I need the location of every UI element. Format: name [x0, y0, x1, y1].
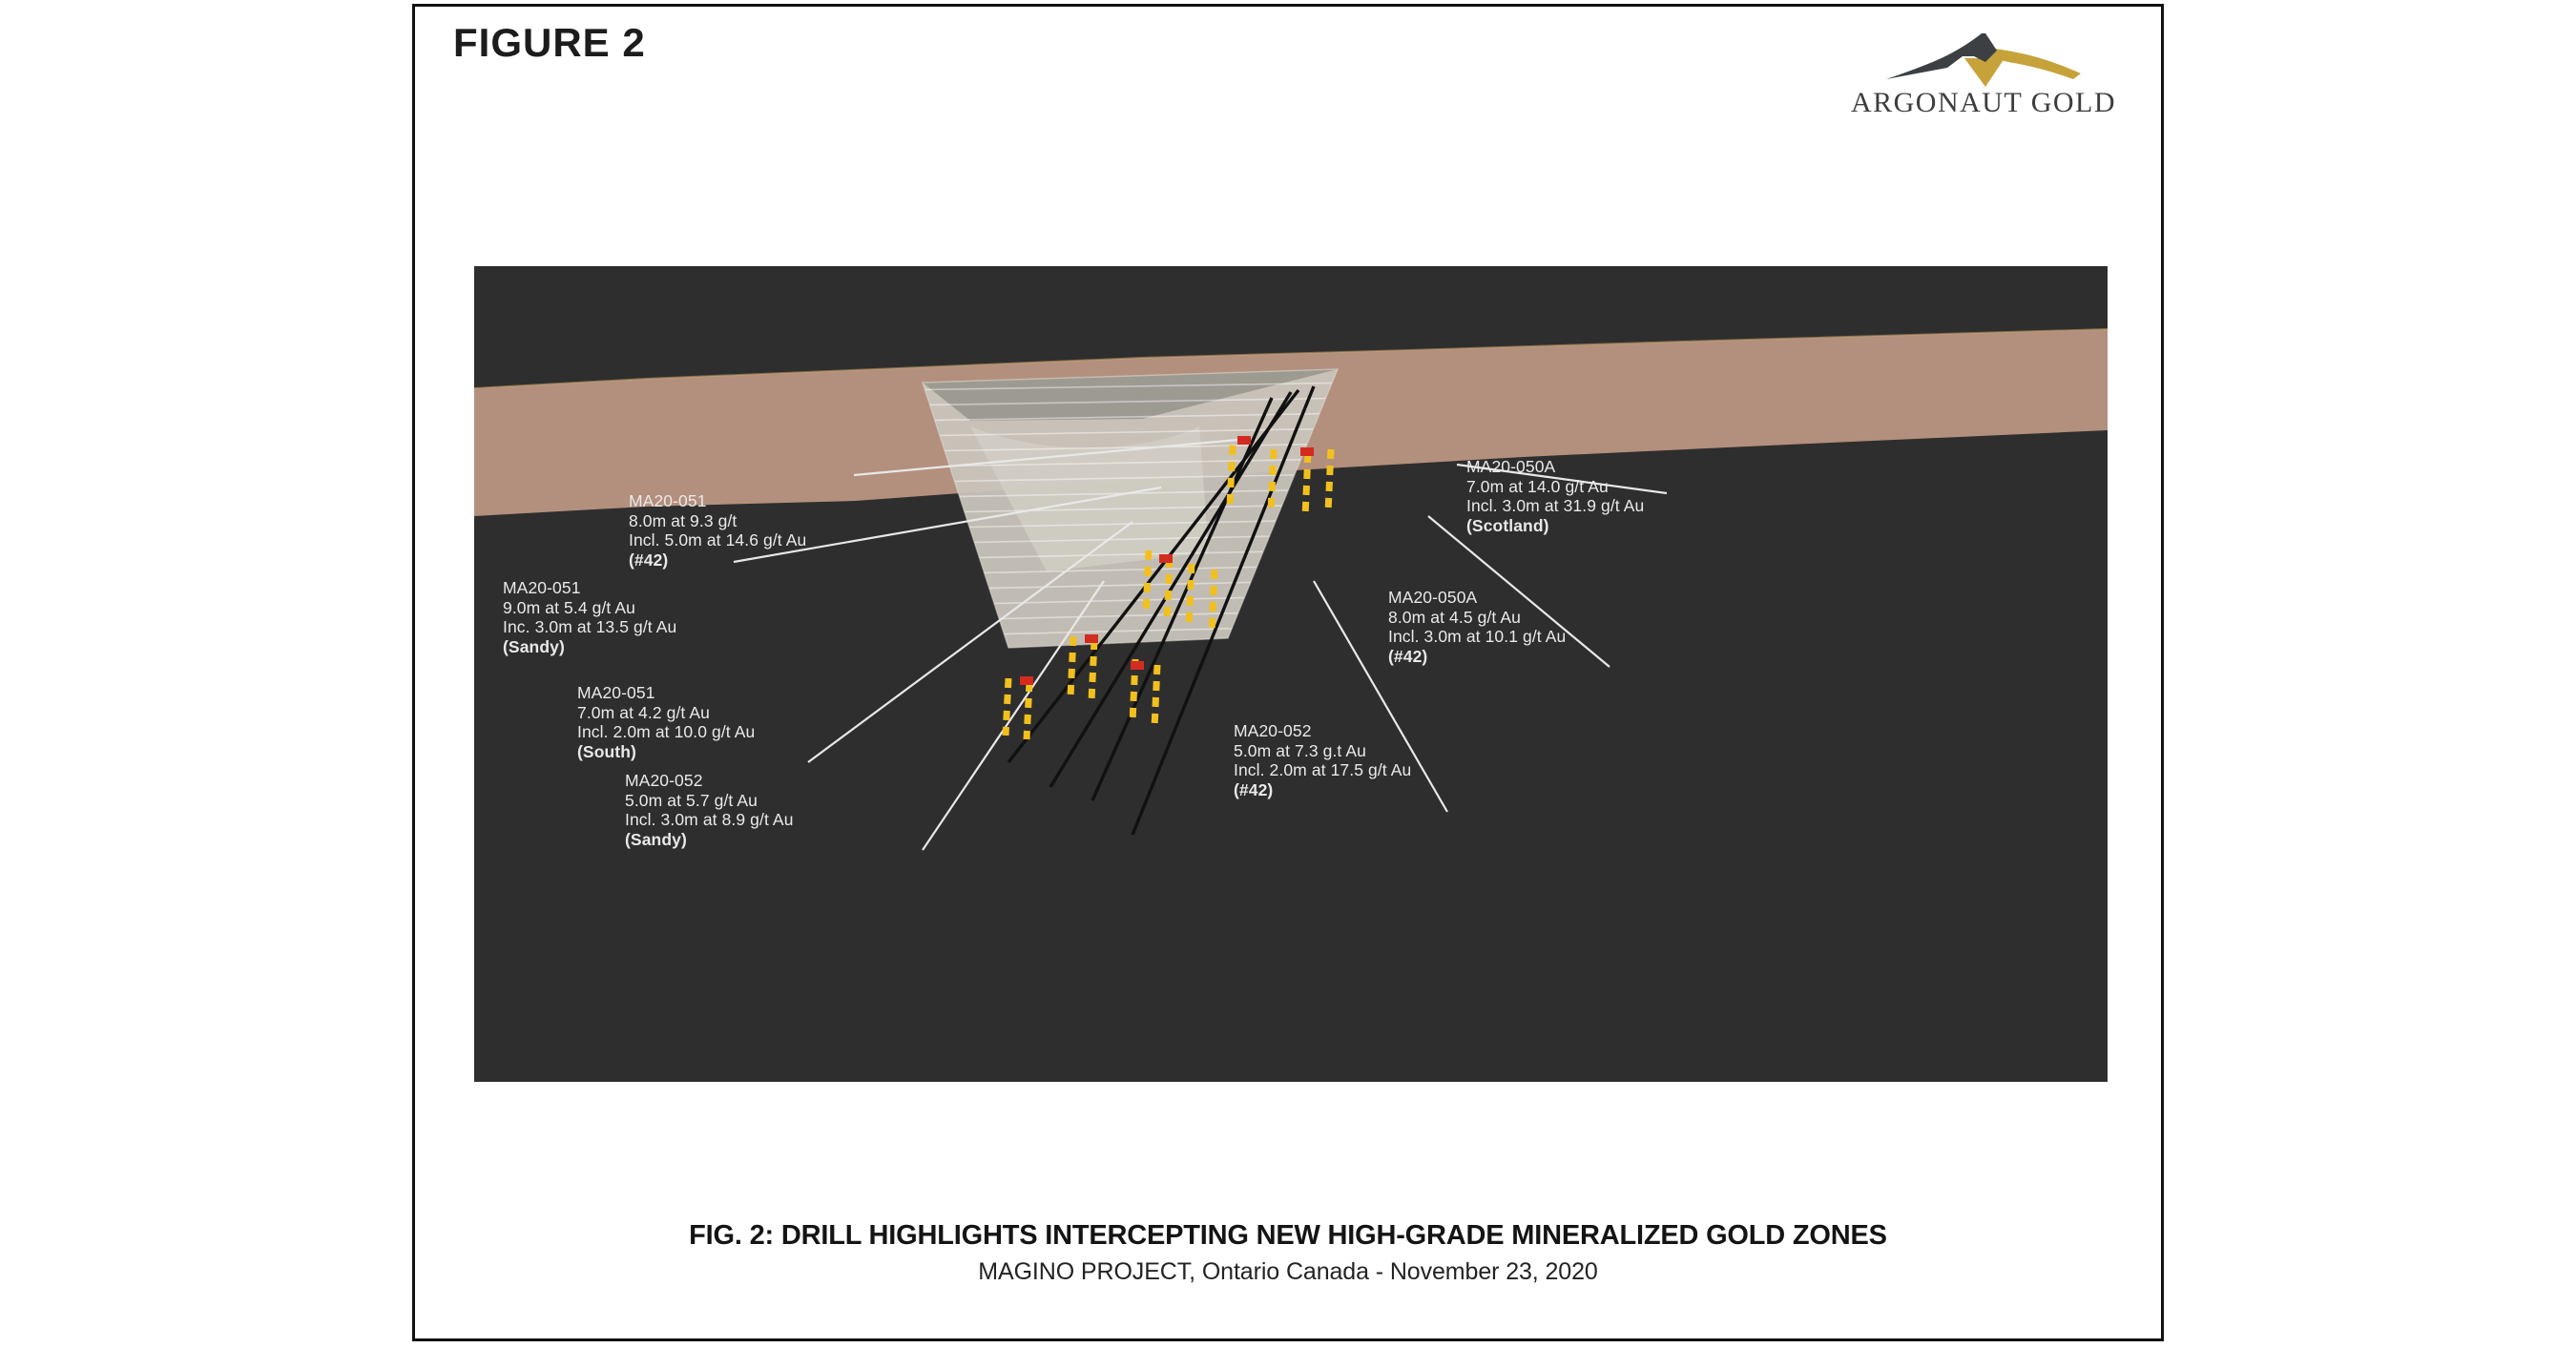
- annotation-interval: 8.0m at 4.5 g/t Au: [1388, 608, 1566, 628]
- logo-wordmark: ARGONAUT GOLD: [1840, 87, 2127, 119]
- annotation-zone: (#42): [1388, 647, 1566, 667]
- annotation-interval: 7.0m at 14.0 g/t Au: [1466, 477, 1644, 497]
- open-pit-shell: [894, 369, 1361, 648]
- annotation-interval: 9.0m at 5.4 g/t Au: [503, 598, 676, 618]
- annotation-included: Incl. 2.0m at 17.5 g/t Au: [1234, 760, 1411, 780]
- annotation-ma20-050a-scotland: MA20-050A 7.0m at 14.0 g/t Au Incl. 3.0m…: [1466, 457, 1644, 535]
- annotation-zone: (Sandy): [503, 637, 676, 657]
- annotation-hole: MA20-052: [1234, 721, 1411, 741]
- annotation-hole: MA20-052: [625, 771, 794, 791]
- page-title: FIGURE 2: [453, 20, 646, 66]
- annotation-zone: (South): [577, 742, 755, 762]
- annotation-zone: (#42): [629, 550, 806, 570]
- figure-caption: FIG. 2: DRILL HIGHLIGHTS INTERCEPTING NE…: [415, 1220, 2161, 1286]
- mountain-arrow-icon: [1840, 24, 2127, 91]
- drillhole-3d-scene: MA20-051 8.0m at 9.3 g/t Incl. 5.0m at 1…: [474, 266, 2108, 1082]
- annotation-ma20-051-sandy: MA20-051 9.0m at 5.4 g/t Au Inc. 3.0m at…: [503, 578, 676, 656]
- caption-title: FIG. 2: DRILL HIGHLIGHTS INTERCEPTING NE…: [415, 1220, 2161, 1252]
- annotation-zone: (Sandy): [625, 830, 794, 850]
- annotation-ma20-052-sandy: MA20-052 5.0m at 5.7 g/t Au Incl. 3.0m a…: [625, 771, 794, 849]
- annotation-ma20-052-42: MA20-052 5.0m at 7.3 g.t Au Incl. 2.0m a…: [1234, 721, 1411, 799]
- annotation-zone: (#42): [1234, 780, 1411, 800]
- annotation-interval: 5.0m at 7.3 g.t Au: [1234, 741, 1411, 761]
- figure-page: FIGURE 2 ARGONAUT GOLD: [412, 4, 2164, 1341]
- caption-subtitle: MAGINO PROJECT, Ontario Canada - Novembe…: [415, 1258, 2161, 1286]
- argonaut-gold-logo: ARGONAUT GOLD: [1840, 24, 2127, 129]
- annotation-included: Inc. 3.0m at 13.5 g/t Au: [503, 617, 676, 637]
- annotation-ma20-051-42: MA20-051 8.0m at 9.3 g/t Incl. 5.0m at 1…: [629, 491, 806, 570]
- annotation-included: Incl. 3.0m at 8.9 g/t Au: [625, 810, 794, 830]
- annotation-interval: 5.0m at 5.7 g/t Au: [625, 791, 794, 811]
- annotation-included: Incl. 2.0m at 10.0 g/t Au: [577, 722, 755, 742]
- annotation-hole: MA20-050A: [1466, 457, 1644, 477]
- annotation-hole: MA20-051: [577, 683, 755, 703]
- annotation-hole: MA20-051: [503, 578, 676, 598]
- annotation-interval: 7.0m at 4.2 g/t Au: [577, 703, 755, 723]
- annotation-included: Incl. 5.0m at 14.6 g/t Au: [629, 530, 806, 550]
- annotation-hole: MA20-051: [629, 491, 806, 511]
- annotation-ma20-051-south: MA20-051 7.0m at 4.2 g/t Au Incl. 2.0m a…: [577, 683, 755, 761]
- annotation-ma20-050a-42: MA20-050A 8.0m at 4.5 g/t Au Incl. 3.0m …: [1388, 588, 1566, 666]
- annotation-hole: MA20-050A: [1388, 588, 1566, 608]
- annotation-zone: (Scotland): [1466, 516, 1644, 536]
- annotation-included: Incl. 3.0m at 31.9 g/t Au: [1466, 496, 1644, 516]
- annotation-interval: 8.0m at 9.3 g/t: [629, 511, 806, 531]
- annotation-included: Incl. 3.0m at 10.1 g/t Au: [1388, 627, 1566, 647]
